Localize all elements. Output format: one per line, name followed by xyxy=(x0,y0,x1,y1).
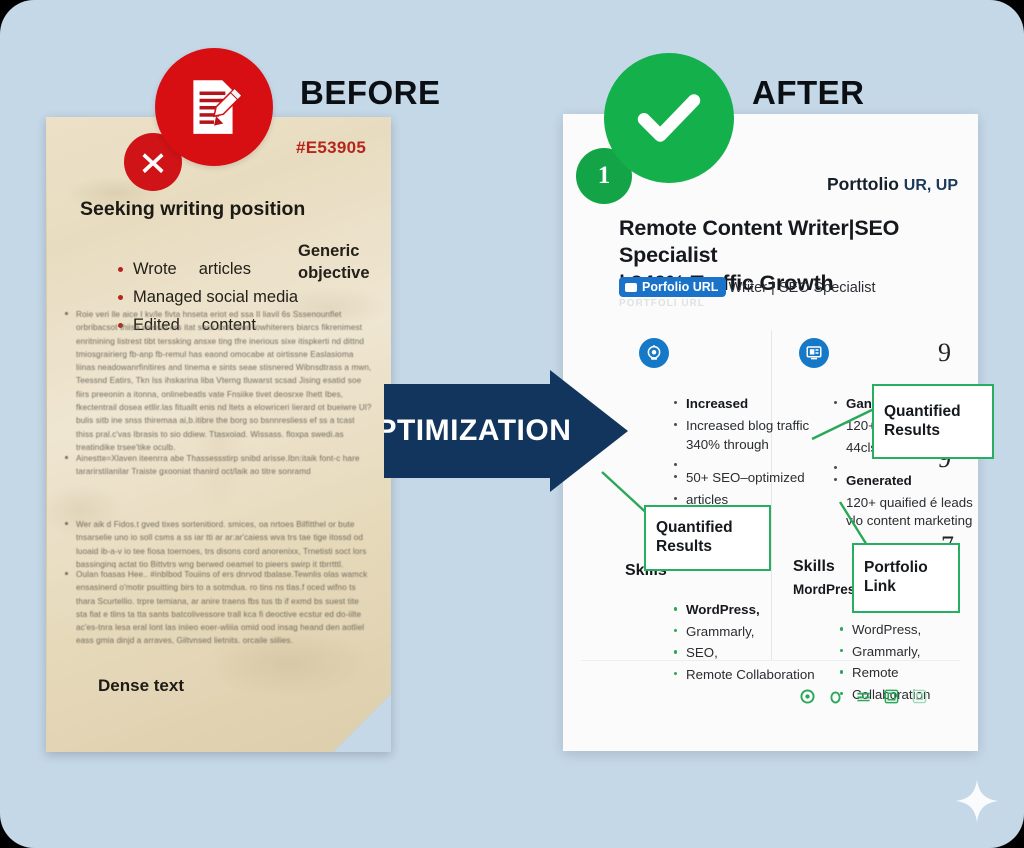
bullet-label: Managed social media xyxy=(133,288,298,306)
sparkle-star-icon xyxy=(954,778,1000,824)
document-pencil-icon xyxy=(155,48,273,166)
square-outline-icon xyxy=(912,689,927,704)
paper-crease xyxy=(46,117,47,752)
after-label: AFTER xyxy=(752,74,865,112)
droplet-icon xyxy=(828,689,843,704)
portfolio-url-chip[interactable]: Porfolio URL xyxy=(619,277,726,297)
quantified-results-callout-left: QuantifiedResults xyxy=(644,505,771,571)
check-circle-icon xyxy=(604,53,734,183)
list-item: Wrotearticles xyxy=(118,260,328,279)
callout-line-1: Quantified xyxy=(884,403,961,420)
portfolio-header: Porttolio UR, UP xyxy=(827,174,958,195)
infographic-canvas: BEFORE AFTER #E53905 Seeking writing pos… xyxy=(0,0,1024,848)
callout-line-2: Results xyxy=(884,422,940,439)
side-number: 9 xyxy=(938,338,951,368)
callout-line-2: Results xyxy=(656,538,712,555)
target-ring-icon xyxy=(800,689,815,704)
optimization-arrow: OPTIMIZATION xyxy=(384,370,628,492)
annotation-line-2: objective xyxy=(298,262,398,284)
mini-icon-row xyxy=(800,689,927,704)
annotation-line-1: Generic xyxy=(298,240,398,262)
list-item: Managed social media xyxy=(118,288,328,307)
camera-target-icon xyxy=(639,338,669,368)
callout-line-2: Link xyxy=(864,578,896,595)
title-line-1: Remote Content Writer|SEO Specialist xyxy=(619,215,964,270)
dense-paragraph: Roie veri lle aice I kv/le fivta hnseta … xyxy=(76,308,372,454)
paper-dogear-fold xyxy=(333,694,391,752)
portfolio-header-main: Porttolio xyxy=(827,174,899,194)
list-item: WordPress, xyxy=(673,599,823,621)
ghost-url-text: PORTFOLI URL xyxy=(619,298,705,309)
dense-paragraph: Oulan foasas Hee.. #inblbod Touiins of e… xyxy=(76,568,372,648)
chip-label: Porfolio URL xyxy=(642,280,718,294)
list-item: WordPress, xyxy=(839,619,978,641)
portfolio-link-callout: PortfolioLink xyxy=(852,543,960,613)
callout-line-1: Portfolio xyxy=(864,559,928,576)
portfolio-header-suffix: UR, UP xyxy=(904,177,958,194)
dense-text-label: Dense text xyxy=(98,676,184,696)
square-frame-icon xyxy=(884,689,899,704)
before-label: BEFORE xyxy=(300,74,441,112)
subtitle-visible: tent Writer | SEO Specialist xyxy=(700,280,875,296)
bullet-label: Wrote xyxy=(133,260,177,278)
list-lines-icon xyxy=(856,689,871,704)
reference-code: #E53905 xyxy=(296,138,366,158)
spacer xyxy=(833,460,973,469)
bullet-value: articles xyxy=(199,260,251,278)
arrow-label: OPTIMIZATION xyxy=(384,414,571,447)
quantified-results-callout-right: QuantifiedResults xyxy=(872,384,994,459)
link-card-icon xyxy=(625,283,637,292)
skills-list-left: WordPress, Grammarly, SEO, Remote Collab… xyxy=(633,599,823,685)
callout-line-1: Quantified xyxy=(656,519,733,536)
monitor-document-icon xyxy=(799,338,829,368)
skills-heading-right: Skills xyxy=(793,558,835,576)
generic-objective-annotation: Generic objective xyxy=(298,240,398,285)
list-item: Remote xyxy=(839,662,978,684)
dense-paragraph: Ainestte=Xlaven iteenrra abe Thassesssti… xyxy=(76,452,372,479)
list-item: Grammarly, xyxy=(839,641,978,663)
list-item: Generated xyxy=(833,472,973,491)
before-heading: Seeking writing position xyxy=(80,198,305,221)
dense-paragraph: Wer aik d Fidos.t gved tixes sortenitior… xyxy=(76,518,376,571)
